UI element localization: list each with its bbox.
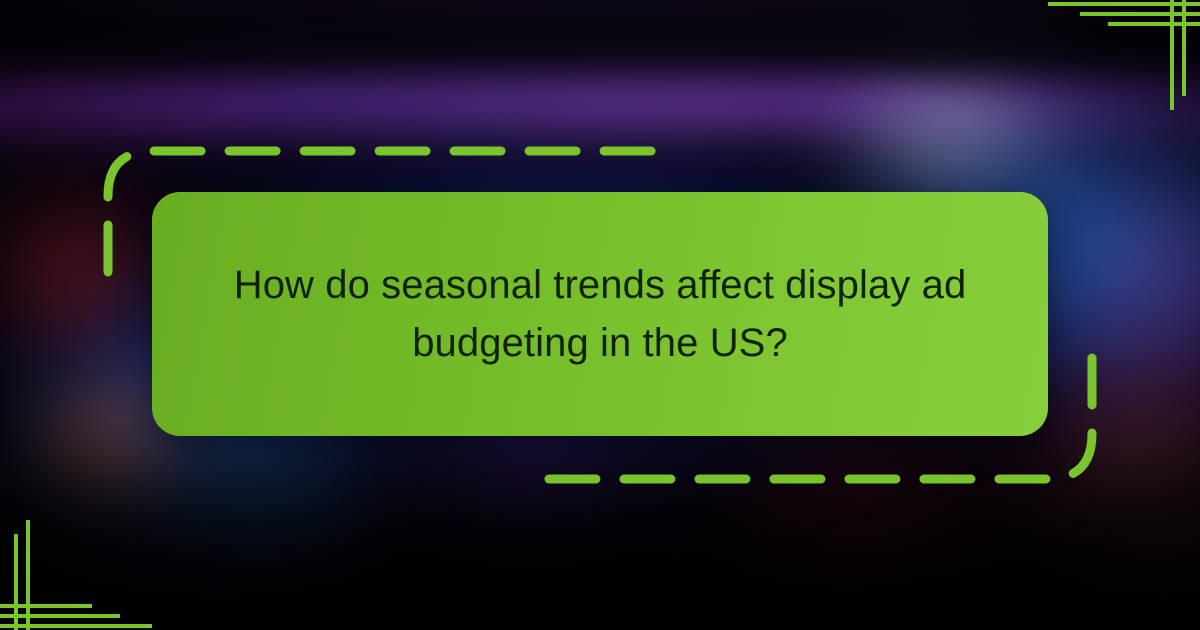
question-text: How do seasonal trends affect display ad…	[208, 256, 992, 372]
question-card: How do seasonal trends affect display ad…	[152, 192, 1048, 436]
og-image-canvas: How do seasonal trends affect display ad…	[0, 0, 1200, 630]
